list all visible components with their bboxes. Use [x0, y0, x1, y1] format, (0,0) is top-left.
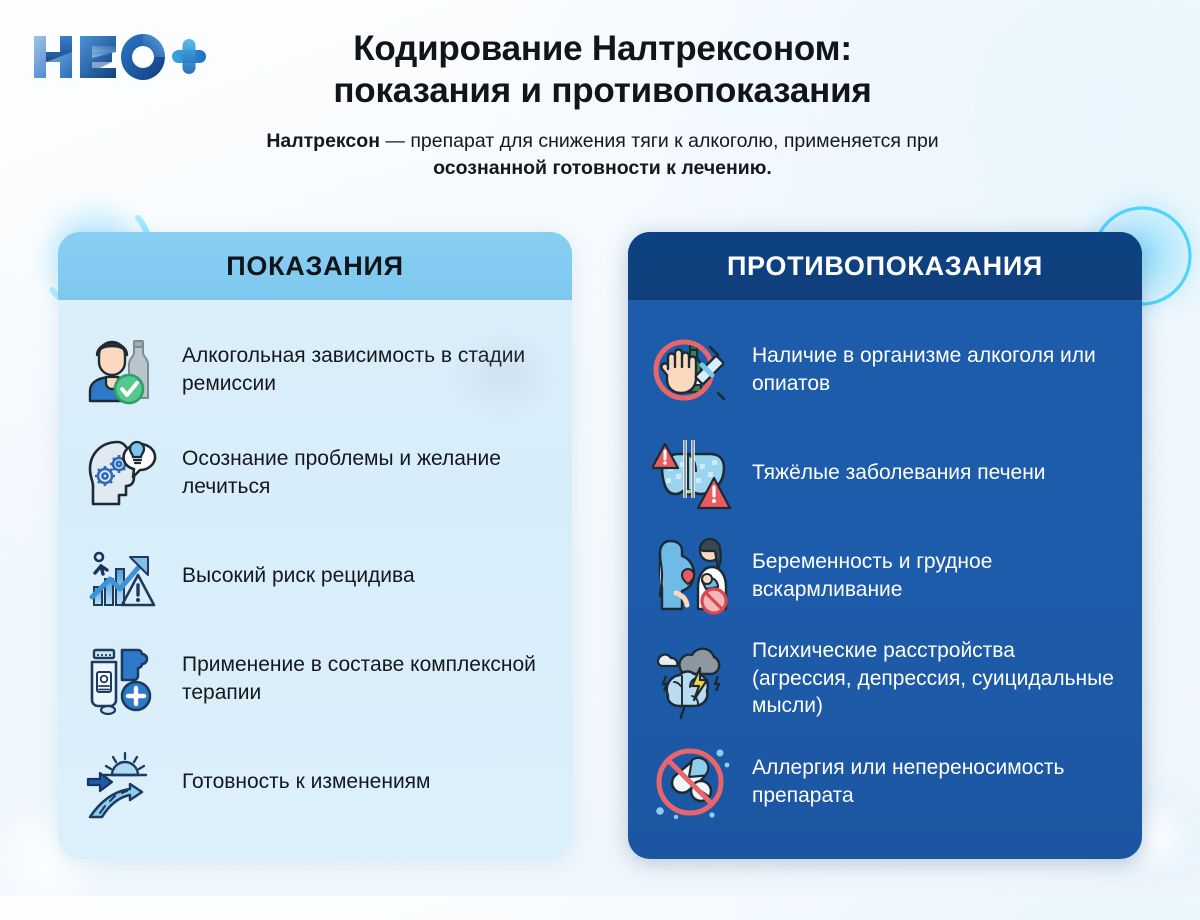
- list-item-text: Алкогольная зависимость в стадии ремисси…: [182, 342, 546, 397]
- card-contraindications-header: ПРОТИВОПОКАЗАНИЯ: [628, 232, 1142, 300]
- stop-hand-bottle-syringe-icon: [652, 329, 734, 411]
- subtitle-bold-lead: Налтрексон: [266, 130, 380, 152]
- page-title-line2: показания и противопоказания: [215, 70, 990, 112]
- list-item[interactable]: Алкогольная зависимость в стадии ремисси…: [82, 318, 546, 421]
- card-contraindications: ПРОТИВОПОКАЗАНИЯ: [628, 232, 1142, 859]
- list-item[interactable]: Высокий риск рецидива: [82, 524, 546, 627]
- head-gears-bulb-icon: [82, 432, 164, 514]
- list-item[interactable]: Готовность к изменениям: [82, 730, 546, 833]
- subtitle-mid: — препарат для снижения тяги к алкоголю,…: [380, 130, 939, 152]
- brain-storm-cloud-icon: [652, 638, 734, 720]
- page-title-line1: Кодирование Налтрексоном:: [353, 29, 852, 68]
- bottle-puzzle-plus-icon: [82, 638, 164, 720]
- card-indications-title: ПОКАЗАНИЯ: [226, 251, 403, 282]
- cards-row: ПОКАЗАНИЯ: [58, 232, 1142, 859]
- list-item[interactable]: Осознание проблемы и желание лечиться: [82, 421, 546, 524]
- list-item[interactable]: Тяжёлые заболевания печени: [652, 421, 1116, 524]
- card-indications-header: ПОКАЗАНИЯ: [58, 232, 572, 300]
- list-item[interactable]: Наличие в организме алкоголя или опиатов: [652, 318, 1116, 421]
- card-contraindications-title: ПРОТИВОПОКАЗАНИЯ: [727, 251, 1043, 282]
- page-title: Кодирование Налтрексоном: показания и пр…: [215, 28, 990, 112]
- page-subtitle: Налтрексон — препарат для снижения тяги …: [215, 128, 990, 182]
- list-item-text: Психические расстройства (агрессия, депр…: [752, 637, 1116, 720]
- card-indications-body: Алкогольная зависимость в стадии ремисси…: [58, 300, 572, 859]
- list-item-text: Готовность к изменениям: [182, 768, 430, 796]
- list-item-text: Беременность и грудное вскармливание: [752, 548, 1116, 603]
- list-item[interactable]: Аллергия или непереносимость препарата: [652, 730, 1116, 833]
- list-item-text: Высокий риск рецидива: [182, 562, 415, 590]
- pills-banned-icon: [652, 741, 734, 823]
- liver-warning-icon: [652, 432, 734, 514]
- risk-chart-warning-icon: [82, 535, 164, 617]
- list-item[interactable]: Психические расстройства (агрессия, депр…: [652, 627, 1116, 730]
- list-item-text: Наличие в организме алкоголя или опиатов: [752, 342, 1116, 397]
- card-indications: ПОКАЗАНИЯ: [58, 232, 572, 859]
- infographic-page: Кодирование Налтрексоном: показания и пр…: [0, 0, 1200, 896]
- list-item[interactable]: Применение в составе комплексной терапии: [82, 627, 546, 730]
- subtitle-bold-tail: осознанной готовности к лечению.: [433, 157, 772, 179]
- person-bottle-check-icon: [82, 329, 164, 411]
- list-item[interactable]: Беременность и грудное вскармливание: [652, 524, 1116, 627]
- sunrise-road-arrow-icon: [82, 741, 164, 823]
- header-block: Кодирование Налтрексоном: показания и пр…: [215, 28, 990, 182]
- list-item-text: Тяжёлые заболевания печени: [752, 459, 1046, 487]
- card-contraindications-body: Наличие в организме алкоголя или опиатов: [628, 300, 1142, 859]
- list-item-text: Применение в составе комплексной терапии: [182, 651, 546, 706]
- pregnancy-breastfeeding-ban-icon: [652, 535, 734, 617]
- neo-plus-logo: [30, 26, 210, 88]
- list-item-text: Аллергия или непереносимость препарата: [752, 754, 1116, 809]
- list-item-text: Осознание проблемы и желание лечиться: [182, 445, 546, 500]
